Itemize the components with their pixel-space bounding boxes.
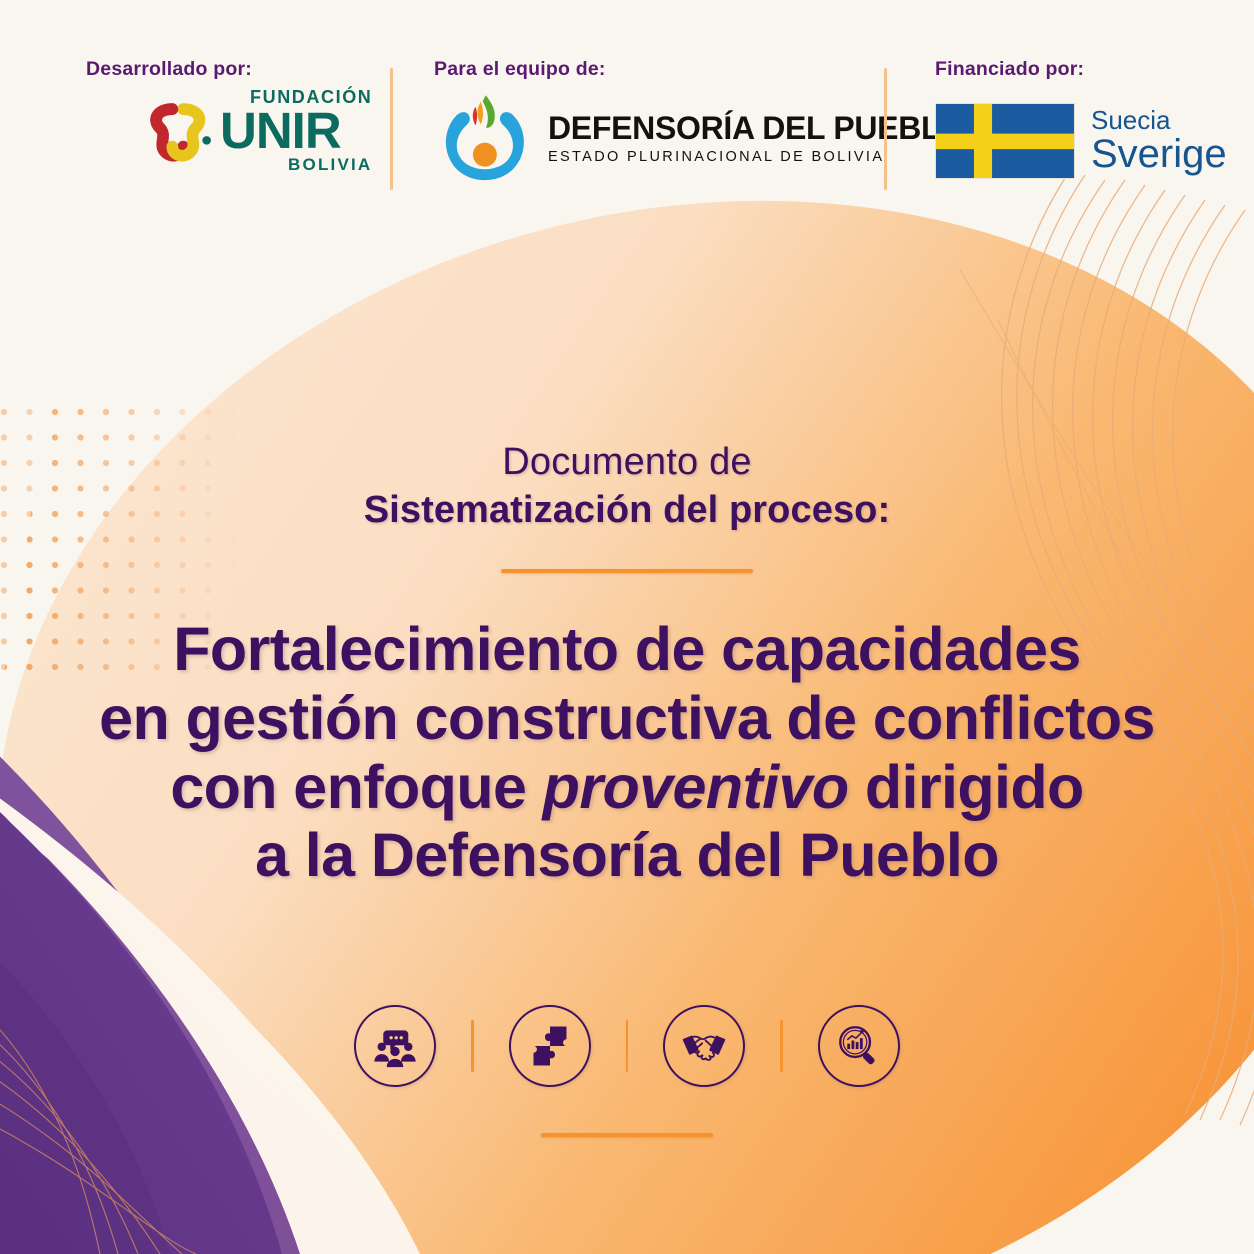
headline-line-3: con enfoque proventivo dirigido xyxy=(0,753,1254,822)
header-divider-1 xyxy=(390,68,393,190)
unir-wordmark: FUNDACIÓN UNIR BOLIVIA xyxy=(220,88,372,173)
puzzle-pieces-glyph xyxy=(526,1022,574,1070)
headline-line-1: Fortalecimiento de capacidades xyxy=(0,615,1254,684)
kicker-line-2: Sistematización del proceso: xyxy=(0,488,1254,533)
headline-line-3-italic: proventivo xyxy=(543,753,849,821)
kicker-divider xyxy=(501,569,753,573)
icon-separator-1 xyxy=(471,1020,474,1072)
poster-main-content: Documento de Sistematización del proceso… xyxy=(0,440,1254,890)
credit-label-developed-by: Desarrollado por: xyxy=(86,58,252,81)
sverige-text: Sverige xyxy=(1091,133,1227,175)
puzzle-pieces-icon xyxy=(509,1005,591,1087)
page-title: Fortalecimiento de capacidades en gestió… xyxy=(0,615,1254,891)
icon-separator-2 xyxy=(626,1020,629,1072)
unir-bolivia-text: BOLIVIA xyxy=(288,156,372,173)
headline-line-4-text: a la Defensoría del Pueblo xyxy=(255,821,999,889)
dialogue-group-icon xyxy=(354,1005,436,1087)
headline-line-1-text: Fortalecimiento de capacidades xyxy=(173,615,1081,683)
sverige-wordmark: Suecia Sverige xyxy=(1091,107,1227,174)
headline-line-2-text: en gestión constructiva de conflictos xyxy=(99,684,1155,752)
defensoria-sub-text: ESTADO PLURINACIONAL DE BOLIVIA xyxy=(548,150,965,165)
sponsor-header: Desarrollado por: FUNDACIÓN UNIR BOLIVIA xyxy=(0,0,1254,205)
defensoria-emblem-icon xyxy=(436,86,540,190)
magnifier-chart-glyph xyxy=(834,1021,884,1071)
dialogue-group-glyph xyxy=(370,1021,420,1071)
headline-line-2: en gestión constructiva de conflictos xyxy=(0,684,1254,753)
defensoria-main-text: DEFENSORÍA DEL PUEBLO xyxy=(548,112,965,144)
bottom-divider xyxy=(541,1133,713,1137)
handshake-icon xyxy=(663,1005,745,1087)
unir-mark-icon xyxy=(138,92,216,170)
icon-separator-3 xyxy=(780,1020,783,1072)
magnifier-chart-icon xyxy=(818,1005,900,1087)
theme-icon-row xyxy=(0,1005,1254,1087)
defensoria-wordmark: DEFENSORÍA DEL PUEBLO ESTADO PLURINACION… xyxy=(548,112,965,165)
credit-label-for-team: Para el equipo de: xyxy=(434,58,606,81)
unir-main-text: UNIR xyxy=(220,107,341,155)
credit-label-financed-by: Financiado por: xyxy=(935,58,1084,81)
sweden-flag-icon xyxy=(935,103,1075,179)
headline-line-3-pre: con enfoque xyxy=(170,753,542,821)
fundacion-unir-bolivia-logo: FUNDACIÓN UNIR BOLIVIA xyxy=(138,88,372,173)
sweden-sverige-logo: Suecia Sverige xyxy=(935,103,1227,179)
headline-line-4: a la Defensoría del Pueblo xyxy=(0,821,1254,890)
kicker-line-1: Documento de xyxy=(0,440,1254,485)
poster-canvas: Desarrollado por: FUNDACIÓN UNIR BOLIVIA xyxy=(0,0,1254,1254)
header-divider-2 xyxy=(884,68,887,190)
handshake-glyph xyxy=(679,1021,729,1071)
suecia-text: Suecia xyxy=(1091,107,1227,134)
headline-line-3-post: dirigido xyxy=(849,753,1084,821)
